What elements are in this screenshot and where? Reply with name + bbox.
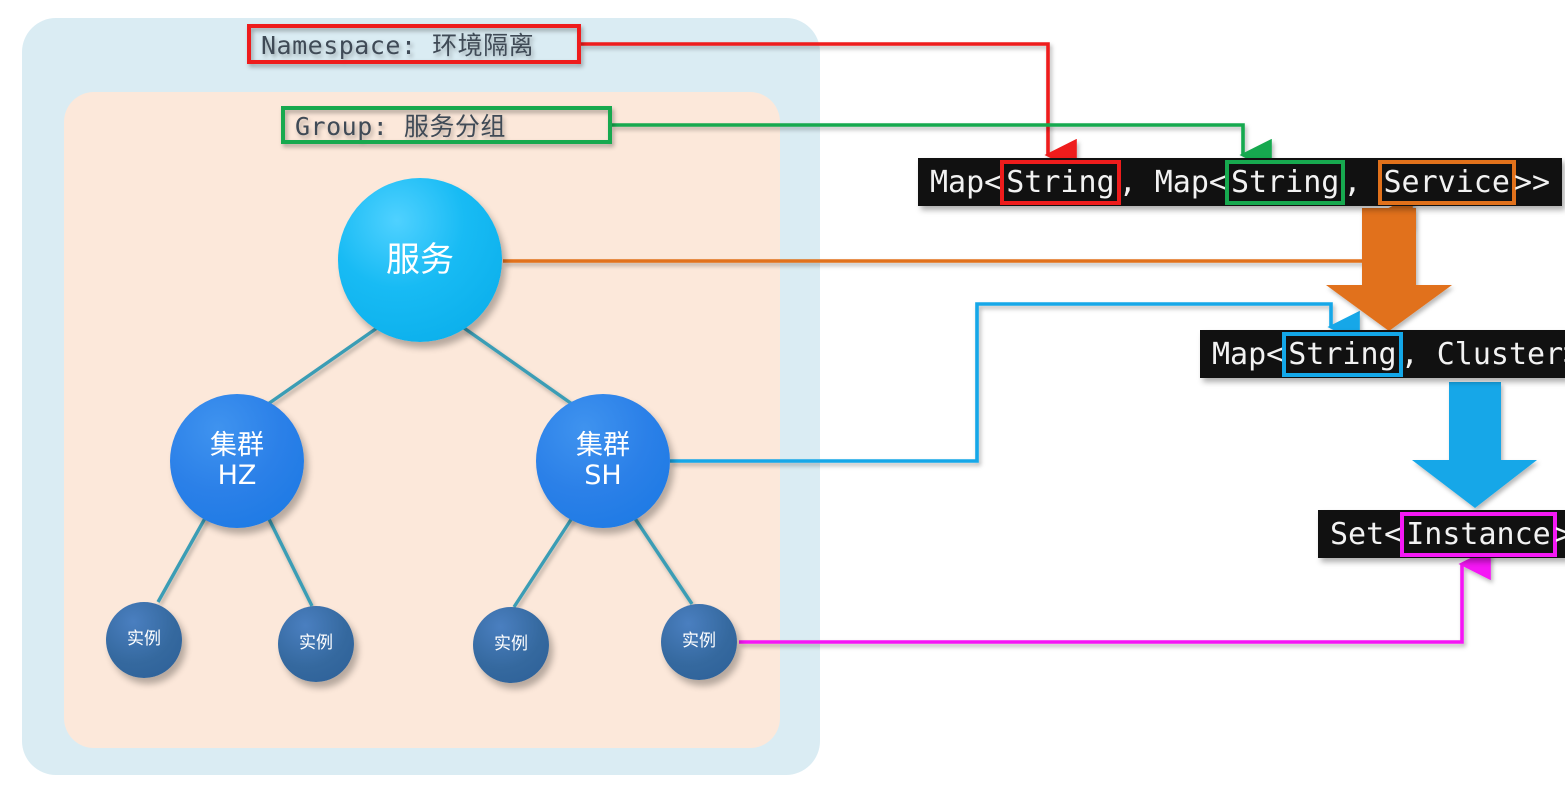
code-text: Set< — [1330, 517, 1402, 552]
group-label: Group: 服务分组 — [295, 107, 506, 143]
node-instance-1-label: 实例 — [127, 630, 161, 649]
code-block-instance-set: Set<Instance> — [1318, 510, 1565, 558]
code-text: > — [1555, 517, 1565, 552]
code-highlight-magenta: Instance — [1400, 512, 1557, 557]
code-highlight-cyan: String — [1282, 332, 1402, 377]
connector-instance — [739, 564, 1462, 642]
node-instance-1[interactable]: 实例 — [106, 602, 182, 678]
code-block-cluster-map: Map<String, Cluster> — [1200, 330, 1565, 378]
code-text: Map< — [930, 165, 1002, 200]
node-instance-4[interactable]: 实例 — [661, 604, 737, 680]
node-service-label: 服务 — [386, 241, 454, 279]
node-instance-2[interactable]: 实例 — [278, 606, 354, 682]
node-cluster-sh-label-line1: 集群 — [576, 431, 630, 461]
group-label-chip: Group: 服务分组 — [281, 106, 612, 144]
node-service[interactable]: 服务 — [338, 178, 502, 342]
code-text: Map< — [1212, 337, 1284, 372]
node-cluster-hz-label-line2: HZ — [218, 461, 257, 491]
node-cluster-sh[interactable]: 集群 SH — [536, 394, 670, 528]
node-cluster-hz-label-line1: 集群 — [210, 431, 264, 461]
node-instance-3[interactable]: 实例 — [473, 607, 549, 683]
node-cluster-sh-label-line2: SH — [584, 461, 621, 491]
flow-arrow-service-to-cluster-icon — [1326, 208, 1452, 331]
node-instance-2-label: 实例 — [299, 634, 333, 653]
node-instance-3-label: 实例 — [494, 635, 528, 654]
code-text: , Cluster> — [1401, 337, 1565, 372]
flow-arrow-cluster-to-instance-icon — [1412, 382, 1537, 508]
code-text: >> — [1514, 165, 1550, 200]
diagram-canvas: Namespace: 环境隔离 Group: 服务分组 Map<String, … — [0, 0, 1565, 787]
namespace-label-chip: Namespace: 环境隔离 — [247, 24, 581, 64]
code-text: , — [1343, 165, 1379, 200]
code-highlight-orange: Service — [1378, 160, 1516, 205]
code-highlight-green: String — [1225, 160, 1345, 205]
code-text: , Map< — [1119, 165, 1227, 200]
code-highlight-red: String — [1000, 160, 1120, 205]
node-cluster-hz[interactable]: 集群 HZ — [170, 394, 304, 528]
namespace-label: Namespace: 环境隔离 — [261, 26, 534, 62]
node-instance-4-label: 实例 — [682, 632, 716, 651]
code-block-service-map: Map<String, Map<String, Service>> — [918, 158, 1562, 206]
